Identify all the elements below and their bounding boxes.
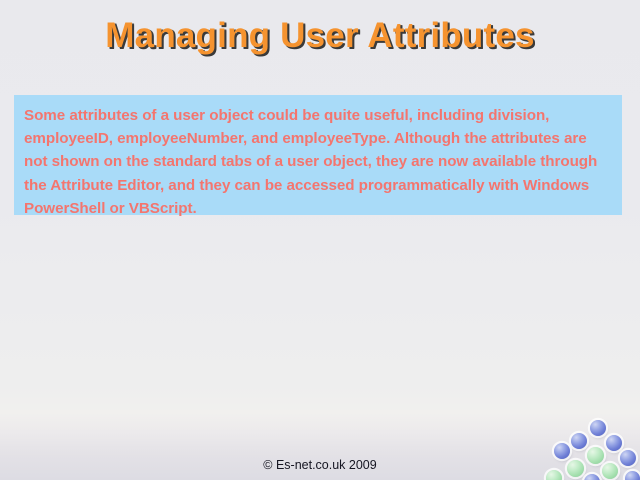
slide-canvas: Managing User Attributes Some attributes… <box>0 0 640 480</box>
sphere-blue-2 <box>606 435 622 451</box>
footer-copyright: © Es-net.co.uk 2009 <box>0 458 640 472</box>
body-text-box: Some attributes of a user object could b… <box>14 95 622 215</box>
sphere-blue-3 <box>554 443 570 459</box>
page-title: Managing User Attributes <box>0 16 640 56</box>
sphere-blue-1 <box>571 433 587 449</box>
sphere-blue-0 <box>590 420 606 436</box>
body-paragraph: Some attributes of a user object could b… <box>24 104 612 220</box>
sphere-blue-9 <box>625 471 640 480</box>
sphere-blue-10 <box>584 474 600 480</box>
